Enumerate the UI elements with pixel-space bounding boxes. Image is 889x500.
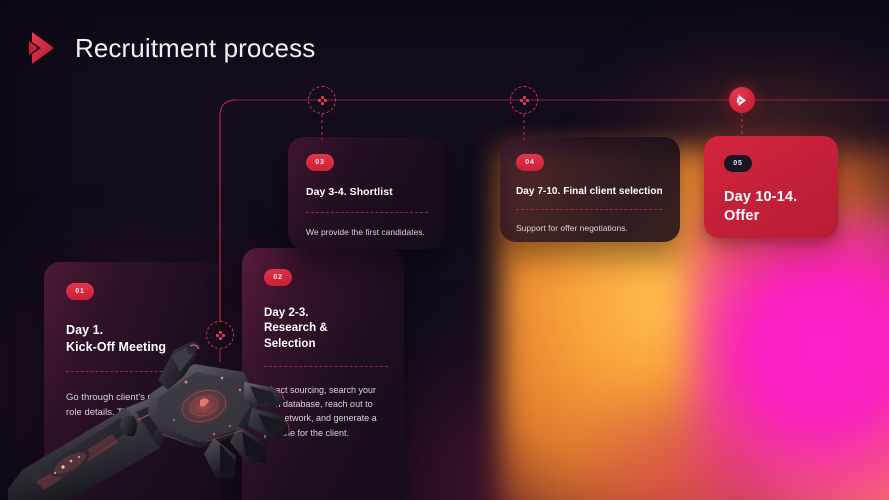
step-badge-2: 02 (264, 269, 292, 286)
background-blob-magenta (690, 215, 889, 500)
step-divider-4 (516, 209, 662, 210)
step-badge-4: 04 (516, 154, 544, 171)
chevron-logo-icon (28, 28, 58, 68)
timeline-node-4[interactable] (510, 86, 538, 114)
step-title-3: Day 3-4. Shortlist (306, 186, 428, 200)
page-header: Recruitment process (28, 28, 315, 68)
step-card-3[interactable]: 03 Day 3-4. Shortlist We provide the fir… (288, 137, 446, 249)
background-blob-salmon (760, 300, 889, 500)
slide-canvas: Recruitment process (0, 0, 889, 500)
chevron-play-icon (737, 94, 748, 107)
timeline-node-3[interactable] (308, 86, 336, 114)
step-card-5-highlighted[interactable]: 05 Day 10-14. Offer (704, 136, 838, 238)
step-title-5: Day 10-14. Offer (724, 188, 818, 226)
step-badge-1: 01 (66, 283, 94, 300)
page-title: Recruitment process (75, 33, 315, 64)
step-divider-3 (306, 212, 428, 213)
step-title-2-line1: Day 2-3. (264, 306, 382, 321)
robotic-hand-illustration (8, 330, 298, 500)
step-title-4: Day 7-10. Final client selection (516, 185, 664, 198)
step-badge-5: 05 (724, 155, 752, 172)
step-card-4[interactable]: 04 Day 7-10. Final client selection Supp… (500, 137, 680, 242)
step-title-5-line1: Day 10-14. (724, 188, 818, 207)
dashed-circle-node-icon (318, 96, 327, 105)
step-body-3: We provide the first candidates. (306, 226, 428, 239)
background-blob-rose (560, 380, 860, 500)
step-title-5-line2: Offer (724, 207, 818, 226)
step-body-4: Support for offer negotiations. (516, 222, 664, 235)
timeline-node-5-active[interactable] (729, 87, 755, 113)
step-badge-3: 03 (306, 154, 334, 171)
dashed-circle-node-icon (520, 96, 529, 105)
